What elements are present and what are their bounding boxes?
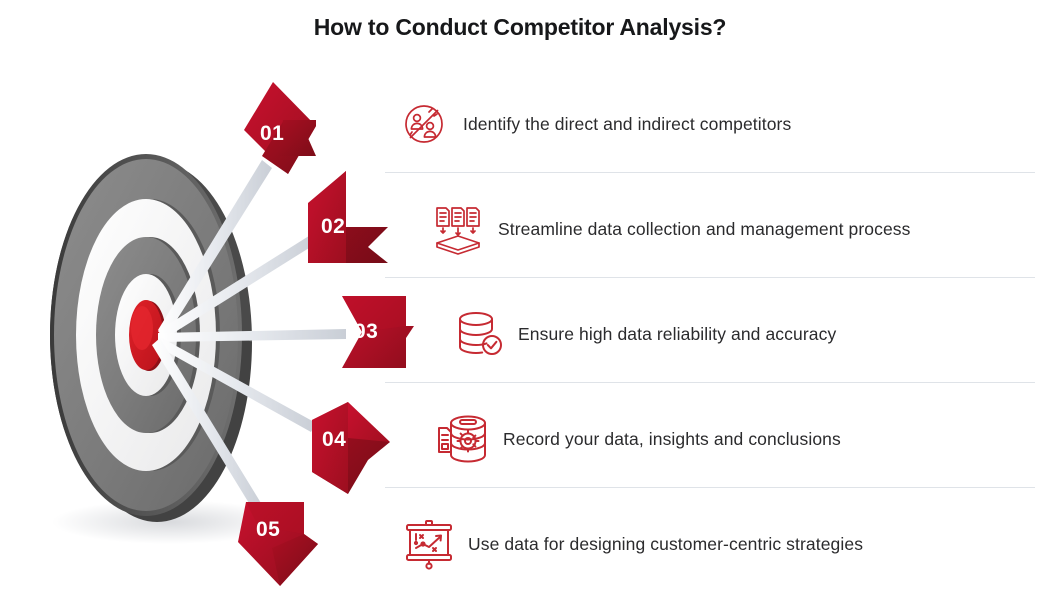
- data-collection-icon: [420, 202, 498, 256]
- presentation-chart-icon: [390, 517, 468, 571]
- step-text-1: Identify the direct and indirect competi…: [463, 114, 791, 135]
- step-text-2: Streamline data collection and managemen…: [498, 219, 911, 240]
- infographic-stage: How to Conduct Competitor Analysis?: [0, 0, 1040, 600]
- identify-competitors-icon: [385, 99, 463, 149]
- step-row-3[interactable]: Ensure high data reliability and accurac…: [440, 282, 1040, 386]
- step-row-2[interactable]: Streamline data collection and managemen…: [420, 177, 1040, 281]
- step-row-5[interactable]: Use data for designing customer-centric …: [390, 492, 1040, 596]
- step-text-5: Use data for designing customer-centric …: [468, 534, 863, 555]
- step-row-4[interactable]: Record your data, insights and conclusio…: [425, 387, 1040, 491]
- step-text-4: Record your data, insights and conclusio…: [503, 429, 841, 450]
- database-gear-document-icon: [425, 410, 503, 468]
- database-check-icon: [440, 307, 518, 361]
- steps-list: Identify the direct and indirect competi…: [0, 0, 1040, 600]
- step-text-3: Ensure high data reliability and accurac…: [518, 324, 836, 345]
- step-row-1[interactable]: Identify the direct and indirect competi…: [385, 72, 1040, 176]
